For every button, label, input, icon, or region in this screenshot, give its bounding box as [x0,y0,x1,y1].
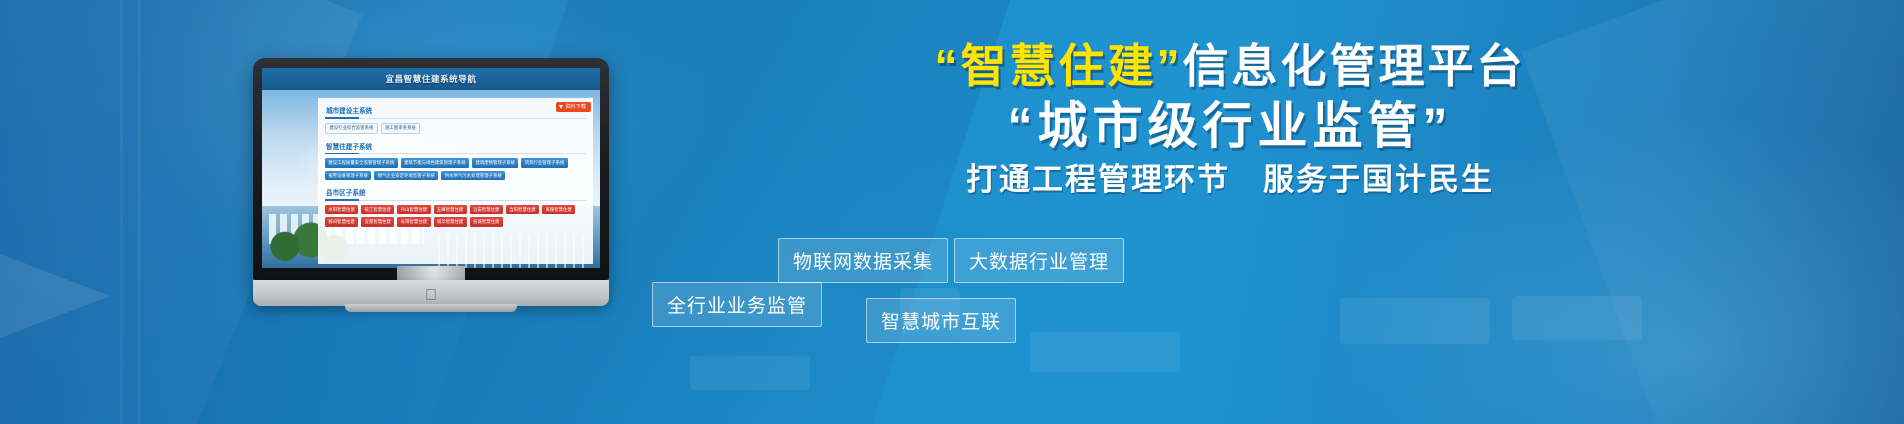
monitor-base [345,304,517,312]
section-title: 城市建设主系统 [325,103,587,119]
section-title: 县市区子系统 [325,185,587,201]
section-smart-housing: 智慧住建子系统 建设工程质量安全监管管理子系统 建筑节能与绿色建筑管理子系统 建… [325,139,587,180]
nav-chip[interactable]: 施工图审查系统 [381,123,421,134]
badge-iot-data-collection[interactable]: 物联网数据采集 [778,238,948,283]
promo-banner: 宜昌智慧住建系统导航 资料下载 城市建设主系统 建设行业综合监管系统 施工图审查… [0,0,1904,424]
feature-badges: 物联网数据采集 大数据行业管理 全行业业务监管 智慧城市互联 [640,232,1820,342]
nav-chip[interactable]: 兴山智慧住建 [397,205,430,214]
nav-chip[interactable]: 水阳智慧住建 [325,205,358,214]
nav-chip[interactable]: 长阳智慧住建 [397,217,430,226]
section-city-main: 城市建设主系统 建设行业综合监管系统 施工图审查系统 [325,103,587,134]
section-button-row: 建设工程质量安全监管管理子系统 建筑节能与绿色建筑管理子系统 建筑废物管理子系统… [325,158,587,180]
badge-all-industry-supervision[interactable]: 全行业业务监管 [652,282,822,327]
nav-chip[interactable]: 建设工程质量安全监管管理子系统 [325,158,398,167]
nav-chip[interactable]: 建设行业综合监管系统 [325,123,378,134]
nav-chip[interactable]: 秭归智慧住建 [325,217,358,226]
nav-chip[interactable]: 枝江智慧住建 [361,205,394,214]
headline-line-2: “城市级行业监管” [640,94,1820,158]
nav-chip[interactable]: 建筑废物管理子系统 [472,158,518,167]
vertical-stripe [138,0,141,424]
nav-chip[interactable]: 燃气企业安定环境监管子系统 [374,171,438,180]
nav-chip[interactable]: 远安智慧住建 [470,205,503,214]
portal-panel: 城市建设主系统 建设行业综合监管系统 施工图审查系统 智慧住建子系统 建设工程质… [318,98,593,264]
nav-chip[interactable]: 报警设备管理子系统 [325,171,371,180]
nav-chip[interactable]: 枝城智慧住建 [470,217,503,226]
nav-chip[interactable]: 建筑节能与绿色建筑管理子系统 [401,158,469,167]
headline-line-3: 打通工程管理环节 服务于国计民生 [640,158,1820,202]
nav-chip[interactable]: 当阳智慧住建 [506,205,539,214]
badge-bigdata-industry-management[interactable]: 大数据行业管理 [954,238,1124,283]
headline-block: “智慧住建”信息化管理平台 “城市级行业监管” 打通工程管理环节 服务于国计民生 [640,38,1820,202]
nav-chip[interactable]: 供水供气污水处理管理子系统 [441,171,505,180]
headline-highlight: “智慧住建” [935,40,1183,92]
headline-line-1: “智慧住建”信息化管理平台 [640,38,1820,94]
nav-chip[interactable]: 夷陵智慧住建 [542,205,575,214]
nav-chip[interactable]: 筑筑行业管理子系统 [521,158,567,167]
monitor-bezel: 宜昌智慧住建系统导航 资料下载 城市建设主系统 建设行业综合监管系统 施工图审查… [253,58,609,280]
soft-box [690,356,810,390]
screen-title: 宜昌智慧住建系统导航 [262,68,600,90]
nav-chip[interactable]: 五峰智慧住建 [434,205,467,214]
download-button[interactable]: 资料下载 [556,102,591,112]
section-county-district: 县市区子系统 水阳智慧住建 枝江智慧住建 兴山智慧住建 五峰智慧住建 远安智慧住… [325,185,587,226]
arrow-shape [0,250,110,342]
imac-illustration: 宜昌智慧住建系统导航 资料下载 城市建设主系统 建设行业综合监管系统 施工图审查… [253,58,609,306]
nav-chip[interactable]: 宜都智慧住建 [361,217,394,226]
monitor-screen: 宜昌智慧住建系统导航 资料下载 城市建设主系统 建设行业综合监管系统 施工图审查… [262,68,600,268]
section-button-row: 建设行业综合监管系统 施工图审查系统 [325,123,587,134]
badge-smart-city-interconnection[interactable]: 智慧城市互联 [866,298,1016,343]
nav-chip[interactable]: 城华智慧住建 [434,217,467,226]
section-title: 智慧住建子系统 [325,139,587,155]
vertical-stripe [120,0,123,424]
headline-rest: 信息化管理平台 [1183,40,1526,92]
section-button-row: 水阳智慧住建 枝江智慧住建 兴山智慧住建 五峰智慧住建 远安智慧住建 当阳智慧住… [325,205,587,227]
